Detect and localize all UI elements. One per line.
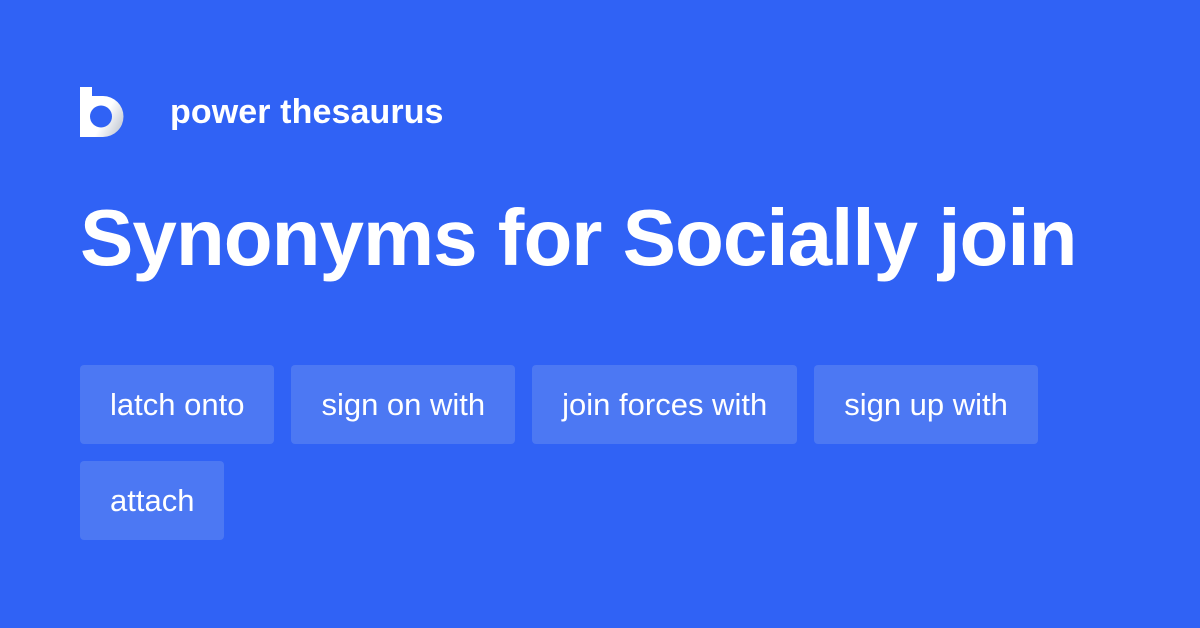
synonym-chip-label: sign up with xyxy=(844,389,1008,420)
synonym-chip-label: sign on with xyxy=(321,389,485,420)
synonym-chip-label: attach xyxy=(110,485,194,516)
brand-name: power thesaurus xyxy=(170,95,444,129)
synonym-chip[interactable]: sign up with xyxy=(814,365,1038,444)
synonym-chip[interactable]: sign on with xyxy=(291,365,515,444)
synonym-chip-list: latch onto sign on with join forces with… xyxy=(80,365,1120,540)
power-thesaurus-b-logo-icon xyxy=(80,87,126,137)
synonym-chip[interactable]: join forces with xyxy=(532,365,797,444)
brand-header[interactable]: power thesaurus xyxy=(80,84,444,140)
synonym-chip[interactable]: latch onto xyxy=(80,365,274,444)
page-title: Synonyms for Socially join xyxy=(80,196,1140,280)
synonym-chip-label: latch onto xyxy=(110,389,244,420)
synonym-chip-label: join forces with xyxy=(562,389,767,420)
synonym-chip[interactable]: attach xyxy=(80,461,224,540)
